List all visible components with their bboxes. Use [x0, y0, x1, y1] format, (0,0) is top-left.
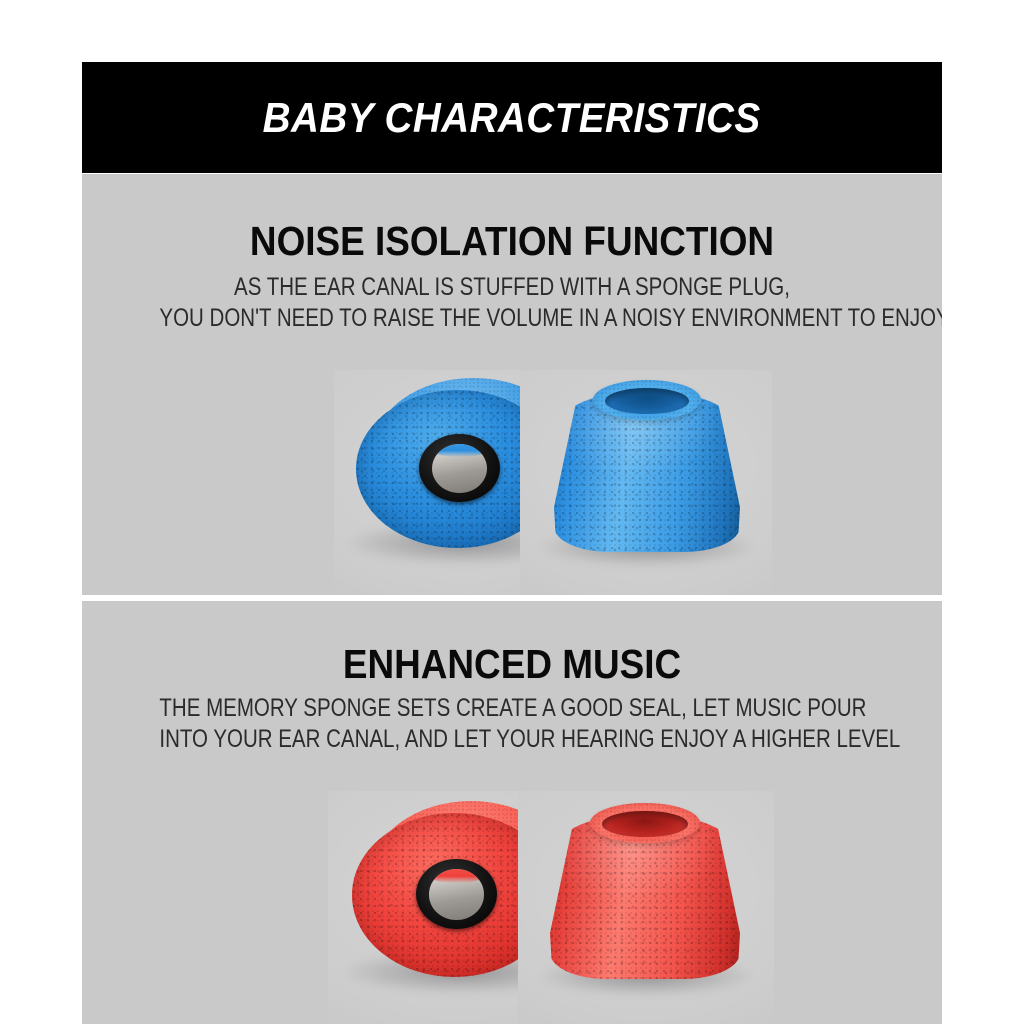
feature-panel-noise-isolation: NOISE ISOLATION FUNCTION AS THE EAR CANA… [82, 174, 942, 595]
description-line-1: THE MEMORY SPONGE SETS CREATE A GOOD SEA… [159, 693, 864, 724]
product-feature-image: BABY CHARACTERISTICS NOISE ISOLATION FUN… [0, 0, 1024, 1024]
rubber-core-ring [419, 434, 500, 502]
bore-lip [432, 444, 487, 458]
cone-bore-opening [602, 811, 688, 837]
banner-title: BABY CHARACTERISTICS [263, 94, 761, 142]
section-heading: NOISE ISOLATION FUNCTION [125, 218, 899, 265]
ear-tip-side-view-red [550, 803, 740, 979]
product-photo-red-side [518, 791, 774, 1024]
bore-lip [429, 869, 484, 883]
ear-tip-side-view-blue [554, 380, 740, 552]
description-line-2: YOU DON'T NEED TO RAISE THE VOLUME IN A … [159, 303, 864, 334]
description-line-2: INTO YOUR EAR CANAL, AND LET YOUR HEARIN… [159, 724, 864, 755]
section-heading: ENHANCED MUSIC [125, 641, 899, 688]
section-description: AS THE EAR CANAL IS STUFFED WITH A SPONG… [159, 272, 864, 334]
section-description: THE MEMORY SPONGE SETS CREATE A GOOD SEA… [159, 693, 864, 755]
product-photo-blue-side [520, 370, 772, 595]
title-banner: BABY CHARACTERISTICS [82, 62, 942, 173]
sound-bore [429, 869, 484, 920]
feature-panel-enhanced-music: ENHANCED MUSIC THE MEMORY SPONGE SETS CR… [82, 601, 942, 1024]
product-photo-stage [82, 791, 942, 1024]
cone-bore-opening [605, 388, 689, 414]
description-line-1: AS THE EAR CANAL IS STUFFED WITH A SPONG… [159, 272, 864, 303]
product-photo-stage [82, 370, 942, 595]
sound-bore [432, 444, 487, 493]
